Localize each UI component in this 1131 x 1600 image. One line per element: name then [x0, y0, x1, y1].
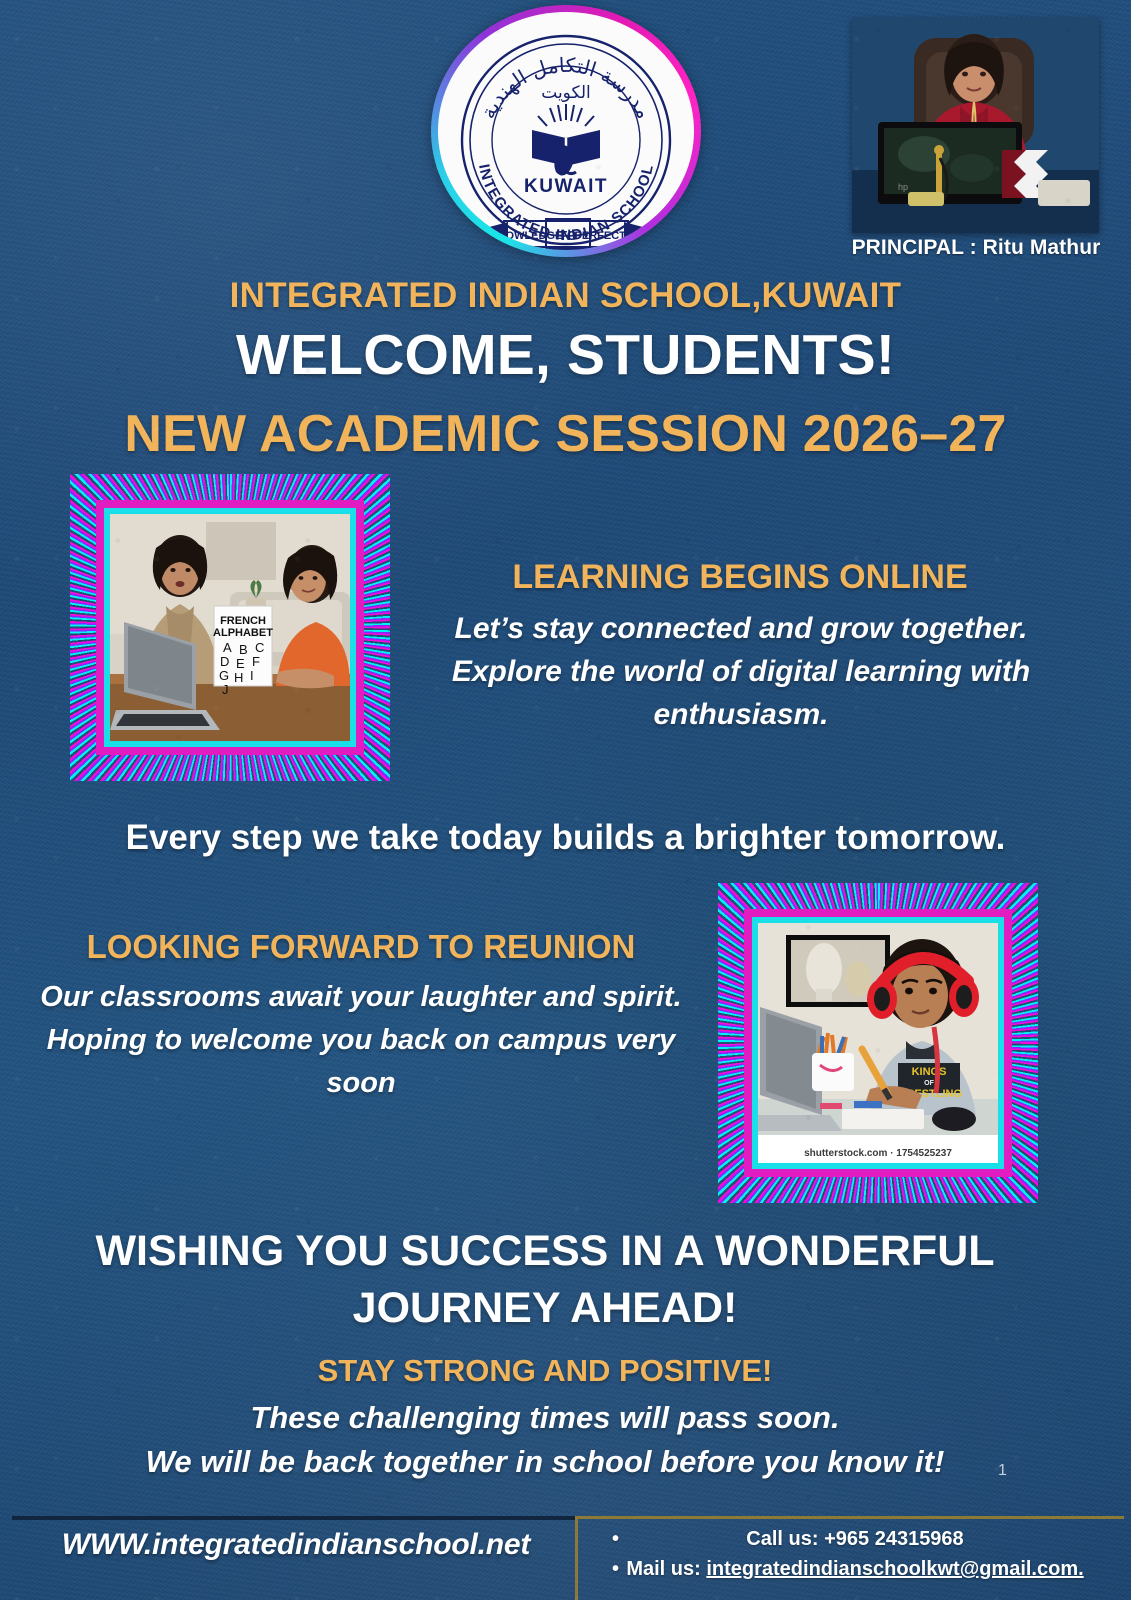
school-emblem-icon: مدرسة التكامل الهندية الكويت [438, 12, 694, 250]
svg-text:OF: OF [924, 1080, 934, 1087]
svg-text:D: D [220, 654, 229, 669]
welcome-title: WELCOME, STUDENTS! [0, 322, 1131, 388]
reunion-photo-illustration: KINGS OF WRESTLING [758, 923, 998, 1163]
learning-body-line3: enthusiasm. [388, 693, 1094, 736]
bullet-icon: • [612, 1554, 619, 1584]
svg-text:J: J [222, 682, 229, 697]
reunion-photo: KINGS OF WRESTLING shutterstock.com · 17… [758, 923, 998, 1163]
svg-text:C: C [255, 640, 264, 655]
session-title: NEW ACADEMIC SESSION 2026–27 [0, 404, 1131, 464]
svg-text:F: F [252, 654, 260, 669]
svg-text:E: E [236, 656, 245, 671]
stay-strong-body: These challenging times will pass soon. … [30, 1396, 1060, 1484]
learning-body-line1: Let’s stay connected and grow together. [388, 607, 1094, 650]
svg-text:الكويت: الكويت [541, 83, 591, 103]
reunion-body-line2: Hoping to welcome you back on campus ver… [0, 1019, 722, 1062]
reunion-body: Our classrooms await your laughter and s… [0, 976, 722, 1105]
svg-text:ALPHABET: ALPHABET [213, 627, 273, 639]
wishing-line1: WISHING YOU SUCCESS IN A WONDERFUL [40, 1223, 1050, 1280]
svg-text:KINGS: KINGS [912, 1066, 947, 1078]
page-number: 1 [998, 1462, 1007, 1480]
learning-body-line2: Explore the world of digital learning wi… [388, 650, 1094, 693]
principal-photo-illustration: hp [852, 18, 1099, 233]
svg-text:PERFECTION: PERFECTION [575, 230, 646, 242]
learning-heading: LEARNING BEGINS ONLINE [390, 558, 1090, 597]
stay-line2: We will be back together in school befor… [30, 1440, 1060, 1484]
svg-text:KUWAIT: KUWAIT [524, 176, 608, 197]
wishing-line2: JOURNEY AHEAD! [40, 1280, 1050, 1337]
footer-contact-list: • Call us: +965 24315968 • Mail us: inte… [590, 1524, 1120, 1594]
svg-text:H: H [234, 670, 243, 685]
reunion-heading: LOOKING FORWARD TO REUNION [0, 928, 722, 966]
principal-caption: PRINCIPAL : Ritu Mathur [845, 236, 1107, 260]
footer-call-text: Call us: +965 24315968 [746, 1528, 963, 1550]
school-logo-disc: مدرسة التكامل الهندية الكويت [438, 12, 694, 250]
footer-divider-right [576, 1516, 1124, 1519]
footer-call-item: • Call us: +965 24315968 [590, 1524, 1120, 1554]
photo-watermark: shutterstock.com · 1754525237 [758, 1143, 998, 1163]
poster-canvas: مدرسة التكامل الهندية الكويت [0, 0, 1131, 1600]
svg-text:I: I [250, 668, 254, 683]
footer-mail-item: • Mail us: integratedindianschoolkwt@gma… [590, 1554, 1120, 1584]
footer-mail-label: Mail us: [626, 1558, 706, 1580]
svg-text:FRENCH: FRENCH [220, 615, 266, 627]
svg-text:KNOWLEDGE: KNOWLEDGE [490, 230, 563, 242]
school-name-title: INTEGRATED INDIAN SCHOOL,KUWAIT [0, 276, 1131, 316]
svg-text:B: B [239, 642, 248, 657]
footer-website-link[interactable]: WWW.integratedindianschool.net [20, 1528, 572, 1562]
bullet-icon: • [612, 1585, 619, 1594]
footer-third-item-clipped: • [590, 1585, 1120, 1594]
stay-strong-heading: STAY STRONG AND POSITIVE! [40, 1353, 1050, 1389]
stay-line1: These challenging times will pass soon. [30, 1396, 1060, 1440]
footer-mail-link[interactable]: integratedindianschoolkwt@gmail.com. [706, 1558, 1083, 1580]
learning-photo: FRENCH ALPHABET A B C D E F G H I J [110, 514, 350, 741]
learning-photo-illustration: FRENCH ALPHABET A B C D E F G H I J [110, 514, 350, 741]
school-logo: مدرسة التكامل الهندية الكويت [431, 5, 701, 257]
reunion-body-line1: Our classrooms await your laughter and s… [0, 976, 722, 1019]
svg-text:hp: hp [898, 182, 908, 192]
tagline-text: Every step we take today builds a bright… [0, 818, 1131, 858]
reunion-photo-frame: KINGS OF WRESTLING shutterstock.com · 17… [718, 883, 1038, 1203]
footer-vertical-separator [575, 1516, 578, 1600]
footer-divider-left [12, 1516, 576, 1520]
principal-photo: hp [852, 18, 1099, 233]
learning-body: Let’s stay connected and grow together. … [388, 607, 1094, 737]
learning-photo-frame: FRENCH ALPHABET A B C D E F G H I J [70, 474, 390, 781]
wishing-text: WISHING YOU SUCCESS IN A WONDERFUL JOURN… [40, 1223, 1050, 1337]
reunion-body-line3: soon [0, 1062, 722, 1105]
svg-text:G: G [219, 668, 229, 683]
bullet-icon: • [612, 1524, 619, 1554]
svg-text:A: A [223, 640, 232, 655]
